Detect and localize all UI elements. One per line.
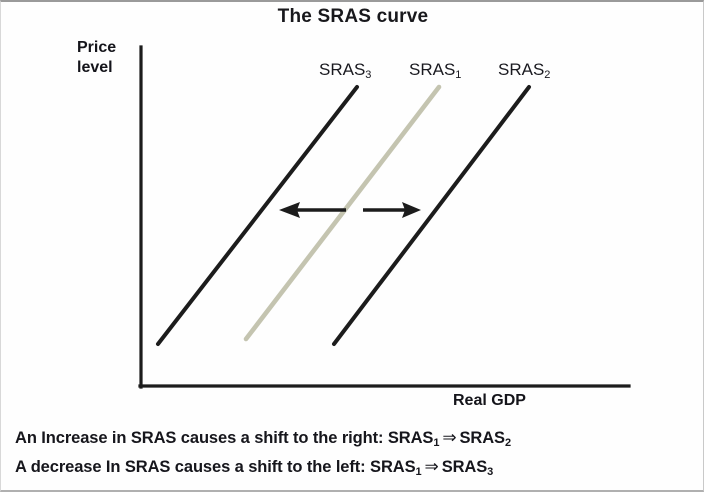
caption-2-from-sub: 1 bbox=[416, 466, 422, 478]
curve-label-sras3: SRAS3 bbox=[319, 60, 371, 80]
curve-label-sras1: SRAS1 bbox=[409, 60, 461, 80]
caption-increase-sras: An Increase in SRAS causes a shift to th… bbox=[15, 428, 511, 448]
caption-1-to-sub: 2 bbox=[505, 437, 511, 449]
curve-label-sras1-base: SRAS bbox=[409, 60, 455, 79]
curve-label-sras3-sub: 3 bbox=[365, 69, 371, 81]
sras-curve-figure: The SRAS curve Price level Real GDP SRAS… bbox=[0, 0, 704, 492]
caption-2-implies-arrow-icon: ⇒ bbox=[422, 457, 442, 476]
curve-label-sras1-sub: 1 bbox=[455, 69, 461, 81]
caption-2-to-sub: 3 bbox=[487, 466, 493, 478]
caption-1-to-base: SRAS bbox=[460, 429, 505, 447]
caption-2-from-base: SRAS bbox=[370, 458, 415, 476]
caption-1-text: An Increase in SRAS causes a shift to th… bbox=[15, 429, 383, 447]
caption-1-from-sub: 1 bbox=[433, 437, 439, 449]
curve-label-sras2: SRAS2 bbox=[498, 60, 550, 80]
caption-decrease-sras: A decrease In SRAS causes a shift to the… bbox=[15, 457, 493, 477]
right-shift-arrow bbox=[363, 202, 421, 218]
caption-2-text: A decrease In SRAS causes a shift to the… bbox=[15, 458, 366, 476]
curve-label-sras2-base: SRAS bbox=[498, 60, 544, 79]
caption-1-implies-arrow-icon: ⇒ bbox=[439, 428, 459, 447]
curve-label-sras2-sub: 2 bbox=[544, 69, 550, 81]
caption-1-from-base: SRAS bbox=[388, 429, 433, 447]
left-shift-arrow bbox=[279, 202, 346, 218]
curve-sras2 bbox=[334, 87, 529, 344]
curve-label-sras3-base: SRAS bbox=[319, 60, 365, 79]
curve-sras3 bbox=[158, 87, 357, 344]
caption-2-to-base: SRAS bbox=[442, 458, 487, 476]
